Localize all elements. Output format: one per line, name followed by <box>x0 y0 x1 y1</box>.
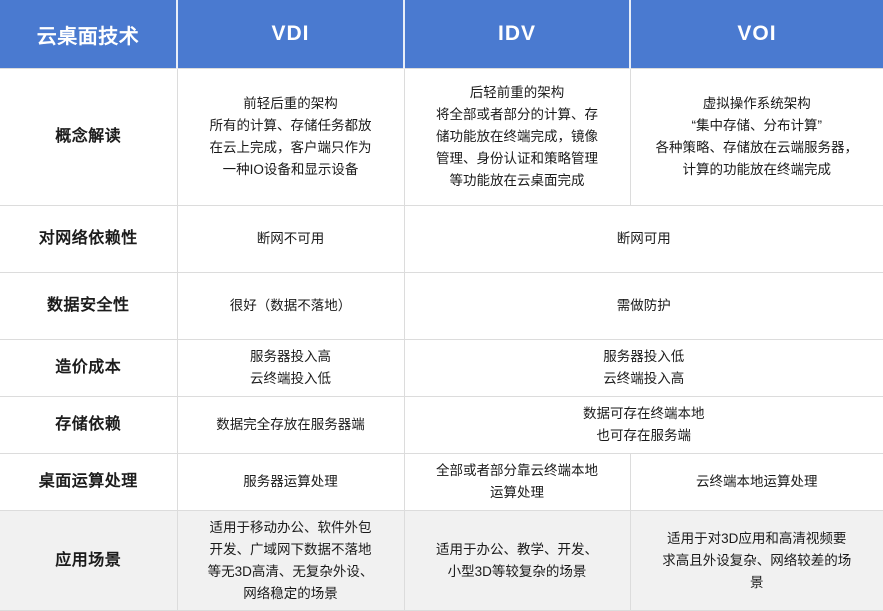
row-label-cell: 概念解读 <box>0 69 177 206</box>
cell-text: 服务器运算处理 <box>188 471 394 493</box>
header-cell-voi: VOI <box>630 0 883 69</box>
table-row: 桌面运算处理服务器运算处理全部或者部分靠云终端本地 运算处理云终端本地运算处理 <box>0 454 883 511</box>
row-label-cell: 对网络依赖性 <box>0 206 177 273</box>
cell-text: 适用于对3D应用和高清视频要 求高且外设复杂、网络较差的场 景 <box>641 528 874 594</box>
cell-text: 适用于办公、教学、开发、 小型3D等较复杂的场景 <box>415 539 620 583</box>
cell-voi: 适用于对3D应用和高清视频要 求高且外设复杂、网络较差的场 景 <box>630 511 883 611</box>
cell-vdi: 前轻后重的架构 所有的计算、存储任务都放 在云上完成，客户端只作为 一种IO设备… <box>177 69 404 206</box>
cell-idv: 后轻前重的架构 将全部或者部分的计算、存 储功能放在终端完成，镜像 管理、身份认… <box>404 69 630 206</box>
cell-idv: 全部或者部分靠云终端本地 运算处理 <box>404 454 630 511</box>
header-cell-category: 云桌面技术 <box>0 0 177 69</box>
header-cell-vdi: VDI <box>177 0 404 69</box>
table-body: 概念解读前轻后重的架构 所有的计算、存储任务都放 在云上完成，客户端只作为 一种… <box>0 69 883 611</box>
table-row: 造价成本服务器投入高 云终端投入低服务器投入低 云终端投入高 <box>0 340 883 397</box>
cell-text: 数据可存在终端本地 也可存在服务端 <box>415 403 874 447</box>
cell-text: 服务器投入低 云终端投入高 <box>415 346 874 390</box>
cell-vdi: 很好（数据不落地） <box>177 273 404 340</box>
cell-text: 后轻前重的架构 将全部或者部分的计算、存 储功能放在终端完成，镜像 管理、身份认… <box>415 82 620 191</box>
header-cell-idv: IDV <box>404 0 630 69</box>
cell-vdi: 服务器投入高 云终端投入低 <box>177 340 404 397</box>
cell-vdi: 数据完全存放在服务器端 <box>177 397 404 454</box>
row-label-cell: 应用场景 <box>0 511 177 611</box>
cell-voi: 云终端本地运算处理 <box>630 454 883 511</box>
cell-text: 需做防护 <box>415 295 874 317</box>
cloud-desktop-comparison-table: 云桌面技术 VDI IDV VOI 概念解读前轻后重的架构 所有的计算、存储任务… <box>0 0 883 611</box>
cell-text: 前轻后重的架构 所有的计算、存储任务都放 在云上完成，客户端只作为 一种IO设备… <box>188 93 394 180</box>
row-label-cell: 桌面运算处理 <box>0 454 177 511</box>
cell-text: 虚拟操作系统架构 “集中存储、分布计算” 各种策略、存储放在云端服务器， 计算的… <box>641 93 874 180</box>
cell-idv-voi-merged: 数据可存在终端本地 也可存在服务端 <box>404 397 883 454</box>
header-row: 云桌面技术 VDI IDV VOI <box>0 0 883 69</box>
table-row: 应用场景适用于移动办公、软件外包 开发、广域网下数据不落地 等无3D高清、无复杂… <box>0 511 883 611</box>
cell-voi: 虚拟操作系统架构 “集中存储、分布计算” 各种策略、存储放在云端服务器， 计算的… <box>630 69 883 206</box>
cell-vdi: 断网不可用 <box>177 206 404 273</box>
cell-text: 数据完全存放在服务器端 <box>188 414 394 436</box>
table-row: 存储依赖数据完全存放在服务器端数据可存在终端本地 也可存在服务端 <box>0 397 883 454</box>
table-row: 数据安全性很好（数据不落地）需做防护 <box>0 273 883 340</box>
row-label-cell: 数据安全性 <box>0 273 177 340</box>
cell-text: 服务器投入高 云终端投入低 <box>188 346 394 390</box>
table-row: 对网络依赖性断网不可用断网可用 <box>0 206 883 273</box>
cell-text: 全部或者部分靠云终端本地 运算处理 <box>415 460 620 504</box>
cell-idv-voi-merged: 断网可用 <box>404 206 883 273</box>
cell-text: 云终端本地运算处理 <box>641 471 874 493</box>
cell-text: 适用于移动办公、软件外包 开发、广域网下数据不落地 等无3D高清、无复杂外设、 … <box>188 517 394 604</box>
table-row: 概念解读前轻后重的架构 所有的计算、存储任务都放 在云上完成，客户端只作为 一种… <box>0 69 883 206</box>
row-label-cell: 造价成本 <box>0 340 177 397</box>
cell-text: 断网可用 <box>415 228 874 250</box>
cell-idv: 适用于办公、教学、开发、 小型3D等较复杂的场景 <box>404 511 630 611</box>
cell-text: 很好（数据不落地） <box>188 295 394 317</box>
row-label-cell: 存储依赖 <box>0 397 177 454</box>
cell-vdi: 适用于移动办公、软件外包 开发、广域网下数据不落地 等无3D高清、无复杂外设、 … <box>177 511 404 611</box>
cell-idv-voi-merged: 需做防护 <box>404 273 883 340</box>
cell-text: 断网不可用 <box>188 228 394 250</box>
cell-vdi: 服务器运算处理 <box>177 454 404 511</box>
table-header: 云桌面技术 VDI IDV VOI <box>0 0 883 69</box>
cell-idv-voi-merged: 服务器投入低 云终端投入高 <box>404 340 883 397</box>
